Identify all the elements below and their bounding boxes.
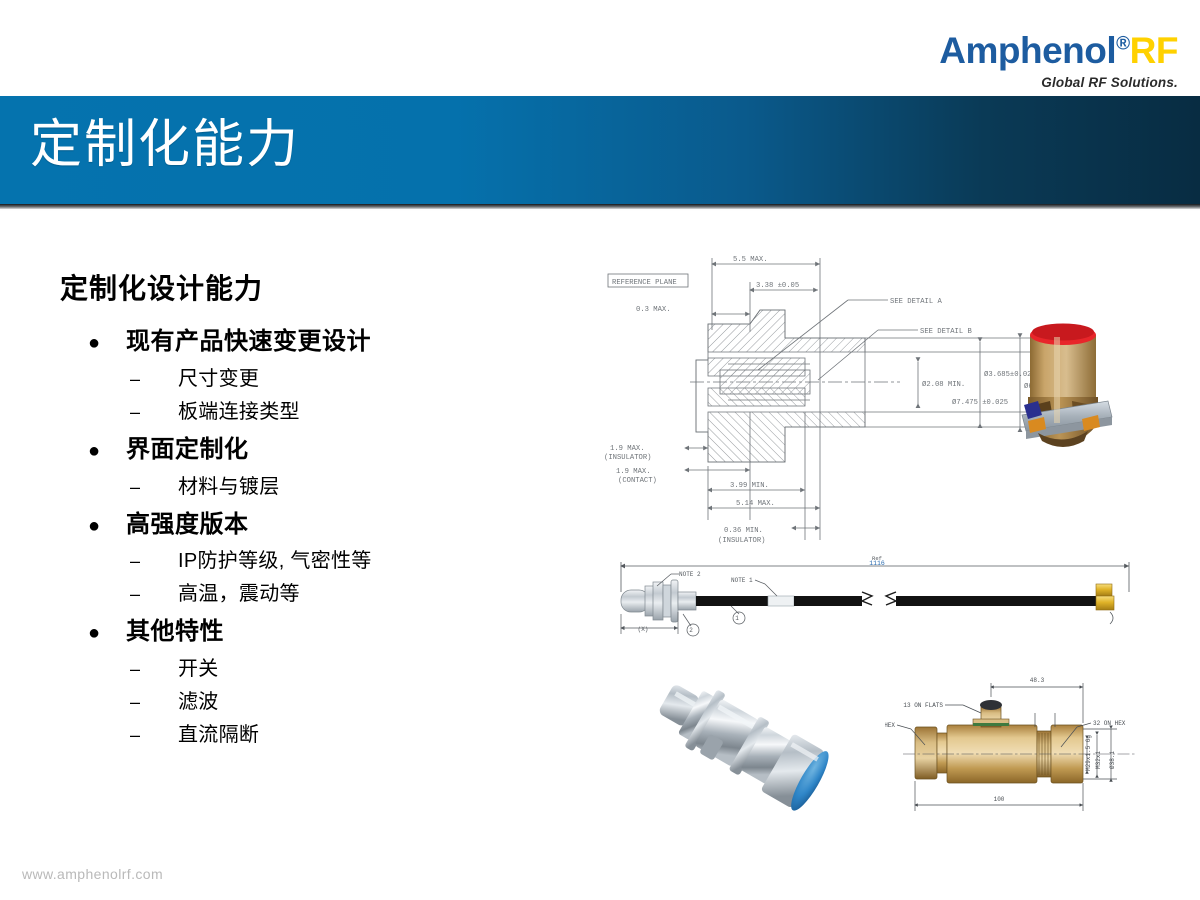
dim-label: 100 — [994, 796, 1005, 803]
bullet-dash-icon: – — [130, 726, 178, 744]
bullet-level1-label: 界面定制化 — [126, 433, 249, 468]
dim-label: 3.99 MIN. — [730, 482, 769, 490]
bullet-dash-icon: – — [130, 585, 178, 603]
dim-label: (CONTACT) — [618, 477, 657, 485]
dim-label: 13 ON FLATS — [903, 702, 943, 709]
logo-tagline: Global RF Solutions. — [939, 76, 1178, 90]
bullet-dash-icon: – — [130, 403, 178, 421]
bullet-level1: ●界面定制化 — [0, 433, 560, 468]
bullet-level2-label: 材料与镀层 — [178, 472, 280, 503]
bullet-level1-label: 其他特性 — [126, 615, 224, 650]
bullet-group: ●其他特性–开关–滤波–直流隔断 — [0, 615, 560, 751]
bullet-dash-icon: – — [130, 478, 178, 496]
dim-label: 48.3 — [1030, 677, 1045, 684]
bullet-dot-icon: ● — [88, 516, 126, 536]
bullet-group: ●现有产品快速变更设计–尺寸变更–板端连接类型 — [0, 325, 560, 428]
bullet-level2-label: 滤波 — [178, 687, 219, 718]
logo-wordmark: Amphenol®RF — [939, 32, 1178, 69]
bullet-group: ●界面定制化–材料与镀层 — [0, 433, 560, 503]
bullet-dot-icon: ● — [88, 333, 126, 353]
page-title: 定制化能力 — [30, 116, 300, 176]
dim-label: 0.3 MAX. — [636, 306, 671, 314]
dim-label: (X) — [638, 626, 649, 633]
bullet-dash-icon: – — [130, 693, 178, 711]
dim-label: 32 ON HEX — [885, 722, 895, 729]
bullet-group: ●高强度版本–IP防护等级, 气密性等–高温，震动等 — [0, 508, 560, 611]
dim-label: SEE DETAIL A — [890, 298, 942, 306]
dim-label: 5.14 MAX. — [736, 500, 775, 508]
bullet-dash-icon: – — [130, 370, 178, 388]
dim-label: 3.38 ±0.05 — [756, 282, 799, 290]
dim-label: 0.36 MIN. — [724, 527, 763, 535]
section-heading: 定制化设计能力 — [60, 267, 263, 307]
bullet-level1: ●现有产品快速变更设计 — [0, 325, 560, 360]
dim-label: 1116 — [869, 560, 885, 567]
bullet-level1: ●高强度版本 — [0, 508, 560, 543]
bullet-level2-label: 开关 — [178, 654, 219, 685]
connector-cross-section-drawing: 5.5 MAX. REFERENCE PLANE 3.38 ±0.05 0.3 … — [600, 252, 1050, 547]
bullet-level2: –滤波 — [0, 687, 560, 718]
brass-inline-connector-drawing: 48.3 100 13 ON FLATS 32 ON HEX 32 ON HEX… — [885, 665, 1150, 825]
bullet-level2: –材料与镀层 — [0, 472, 560, 503]
bullet-level1-label: 现有产品快速变更设计 — [126, 325, 371, 360]
dim-label: 5.5 MAX. — [733, 256, 768, 264]
dim-label: M32x1 — [1095, 751, 1102, 769]
footer-website-url: www.amphenolrf.com — [22, 866, 163, 882]
chrome-connector-photo — [640, 662, 855, 827]
dim-label: (INSULATOR) — [604, 454, 651, 462]
note-label: NOTE 2 — [679, 571, 701, 578]
dim-label: 1.9 MAX. — [616, 468, 651, 476]
dim-label: Ø38.1 — [1109, 751, 1116, 769]
dim-label: 1.9 MAX. — [610, 445, 645, 453]
dim-label: SEE DETAIL B — [920, 328, 972, 336]
bullet-dash-icon: – — [130, 660, 178, 678]
bullet-level2: –IP防护等级, 气密性等 — [0, 546, 560, 577]
bullet-level2-label: 板端连接类型 — [178, 397, 300, 428]
bullet-level2-label: 高温，震动等 — [178, 579, 300, 610]
dim-label: M29x1.5 6g — [1085, 735, 1092, 771]
logo-brand-text: Amphenol — [939, 30, 1116, 71]
dim-label: Ø2.08 MIN. — [922, 380, 965, 389]
bullet-level2: –高温，震动等 — [0, 579, 560, 610]
slide-header: Amphenol®RF Global RF Solutions. — [0, 0, 1200, 96]
content-text-column: 定制化设计能力 ●现有产品快速变更设计–尺寸变更–板端连接类型●界面定制化–材料… — [0, 215, 560, 835]
logo-rf-text: RF — [1130, 30, 1178, 71]
bullet-list: ●现有产品快速变更设计–尺寸变更–板端连接类型●界面定制化–材料与镀层●高强度版… — [0, 325, 560, 756]
note-label: NOTE 1 — [731, 577, 753, 584]
bullet-level2: –开关 — [0, 654, 560, 685]
bullet-dot-icon: ● — [88, 623, 126, 643]
banner-divider — [0, 204, 1200, 209]
balloon-label: 1 — [735, 615, 739, 622]
cable-assembly-drawing: Ref 1116 — [605, 552, 1145, 652]
bullet-level1-label: 高强度版本 — [126, 508, 249, 543]
bullet-level2-label: 直流隔断 — [178, 720, 259, 751]
bullet-level2-label: 尺寸变更 — [178, 364, 259, 395]
registered-trademark-icon: ® — [1116, 34, 1130, 55]
bullet-level2: –尺寸变更 — [0, 364, 560, 395]
bullet-dot-icon: ● — [88, 441, 126, 461]
title-banner: 定制化能力 — [0, 96, 1200, 204]
amphenol-rf-logo: Amphenol®RF Global RF Solutions. — [939, 32, 1178, 90]
bullet-dash-icon: – — [130, 552, 178, 570]
bullet-level2: –板端连接类型 — [0, 397, 560, 428]
bullet-level1: ●其他特性 — [0, 615, 560, 650]
brass-connector-3d-render — [1000, 305, 1135, 460]
dim-label: REFERENCE PLANE — [612, 279, 677, 287]
dim-label: (INSULATOR) — [718, 537, 765, 545]
balloon-label: 2 — [689, 627, 693, 634]
bullet-level2: –直流隔断 — [0, 720, 560, 751]
bullet-level2-label: IP防护等级, 气密性等 — [178, 546, 372, 577]
dim-label: 32 ON HEX — [1093, 720, 1126, 727]
